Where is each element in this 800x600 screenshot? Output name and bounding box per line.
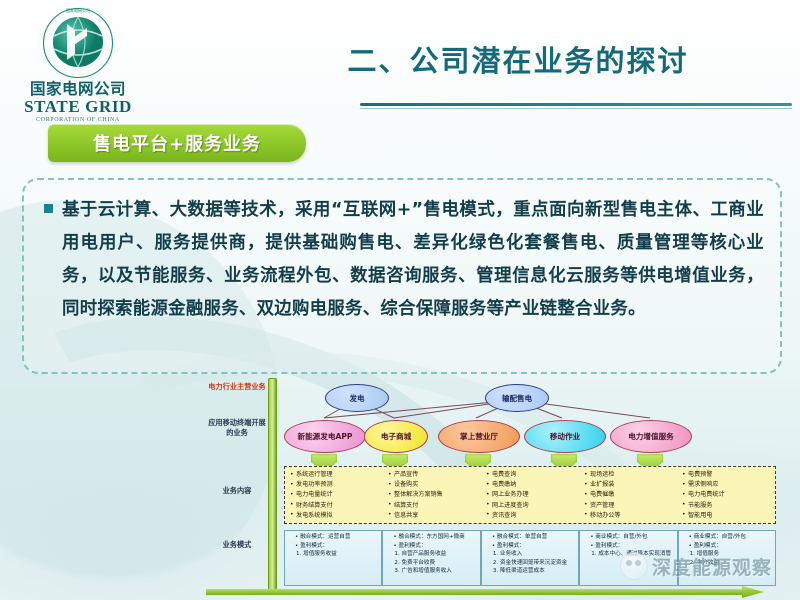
title-underline	[360, 103, 792, 106]
node-mobile-operations[interactable]: 移动作业	[524, 420, 606, 453]
arrow-shaft	[206, 589, 746, 595]
content-item: 结算支付	[388, 501, 479, 511]
content-item: 电力电费统计	[682, 490, 773, 500]
slide-canvas: 国家电网公司 国家电网公司 STATE GRID CORPORATION OF …	[0, 0, 800, 600]
watermark: 深度能源观察	[620, 552, 772, 580]
content-item: 网上进度查询	[486, 501, 577, 511]
watermark-logo-icon	[620, 552, 648, 580]
content-item: 网上业务办理	[486, 490, 577, 500]
content-item: 系统运行管理	[290, 470, 381, 480]
model-box-2: • 融合模式：东方国网+微商 • 盈利模式： 1. 自营产品服务收益 2. 免费…	[382, 530, 480, 586]
model-line: • 融合模式：东方国网+微商	[387, 533, 477, 542]
content-column-1: 系统运行管理 发电功率预测 电力电量统计 财务结算支付 发电系统模拟	[285, 467, 383, 523]
node-ecommerce-label: 电子商城	[381, 432, 411, 441]
row-label-business-model: 业务模式	[206, 540, 268, 550]
row-label-main-business: 电力行业主营业务	[206, 382, 268, 392]
model-line: • 盈利模式：	[387, 542, 477, 551]
model-line: • 融合模式：运营自营	[289, 533, 379, 542]
logo-chinese-name: 国家电网公司	[8, 81, 148, 97]
node-mobile-operations-label: 移动作业	[550, 432, 580, 441]
content-item: 设备购买	[388, 480, 479, 490]
node-power-generation[interactable]: 发电	[325, 384, 389, 412]
globe-icon: 国家电网公司	[41, 6, 115, 80]
content-item: 发电功率预测	[290, 480, 381, 490]
content-column-3: 电费查询 电费缴纳 网上业务办理 网上进度查询 资讯查询	[481, 467, 579, 523]
content-item: 智能用电	[682, 511, 773, 521]
page-title: 二、公司潜在业务的探讨	[258, 38, 778, 80]
logo-english-name: STATE GRID	[8, 98, 148, 115]
model-line: 3. 降低渠道运营成本	[486, 567, 576, 576]
model-line: • 盈利模式：	[486, 542, 576, 551]
node-mobile-service-hall[interactable]: 掌上营业厅	[438, 420, 520, 453]
content-item: 电费预警	[682, 470, 773, 480]
content-panel: 基于云计算、大数据等技术，采用“互联网+”售电模式，重点面向新型售电主体、工商业…	[22, 178, 782, 374]
content-item: 信息共享	[388, 511, 479, 521]
model-box-1: • 融合模式：运营自营 • 盈利模式： 1. 增值服务收益	[284, 530, 382, 586]
model-line: 2. 资金快速回笼带来沉淀资金	[486, 559, 576, 568]
svg-text:国家电网公司: 国家电网公司	[66, 7, 90, 13]
content-item: 电费查询	[486, 470, 577, 480]
bottom-progress-arrow	[206, 586, 766, 597]
row-label-business-content: 业务内容	[206, 486, 268, 496]
content-item: 资讯查询	[486, 511, 577, 521]
model-line: • 盈利模式：	[584, 542, 674, 551]
content-item: 电力电量统计	[290, 490, 381, 500]
model-line: 3. 广告和增值服务收入	[387, 567, 477, 576]
row-label-mobile-business: 应用移动终端开展的业务	[206, 418, 268, 438]
content-item: 业扩报装	[584, 480, 675, 490]
content-item: 电费催缴	[584, 490, 675, 500]
content-column-4: 现场运检 业扩报装 电费催缴 资产管理 移动办公等	[579, 467, 677, 523]
content-item: 节能服务	[682, 501, 773, 511]
business-content-box: 系统运行管理 发电功率预测 电力电量统计 财务结算支付 发电系统模拟 产品宣传 …	[284, 466, 776, 524]
node-value-added-services[interactable]: 电力增值服务	[610, 420, 692, 453]
content-item: 整体解决方案销售	[388, 490, 479, 500]
section-tab-label: 售电平台+服务业务	[93, 130, 261, 156]
node-mobile-service-hall-label: 掌上营业厅	[460, 432, 498, 441]
node-power-generation-label: 发电	[350, 394, 365, 403]
content-column-5: 电费预警 需求侧响应 电力电费统计 节能服务 智能用电	[677, 467, 775, 523]
content-item: 财务结算支付	[290, 501, 381, 511]
content-item: 发电系统模拟	[290, 511, 381, 521]
diagram-vertical-axis	[268, 378, 277, 590]
content-item: 产品宣传	[388, 470, 479, 480]
arrow-head-icon	[742, 586, 764, 598]
model-line: 1. 自营产品服务收益	[387, 550, 477, 559]
node-ecommerce[interactable]: 电子商城	[364, 420, 428, 453]
model-line: • 商业模式：自营/外包	[584, 533, 674, 542]
content-item: 需求侧响应	[682, 480, 773, 490]
model-line: 2. 免费平台收费	[387, 559, 477, 568]
model-box-3: • 融合模式：单营自营 • 盈利模式： 1. 业务收入 2. 资金快速回笼带来沉…	[481, 530, 579, 586]
title-underline-thin	[360, 108, 792, 109]
section-tab: 售电平台+服务业务	[48, 124, 306, 162]
model-line: • 盈利模式：	[289, 542, 379, 551]
state-grid-logo: 国家电网公司 国家电网公司 STATE GRID CORPORATION OF …	[8, 6, 148, 124]
content-item: 资产管理	[584, 501, 675, 511]
node-new-energy-app-label: 新能源发电APP	[298, 432, 353, 441]
model-line: • 商业模式：自营/外包	[683, 533, 773, 542]
model-line: • 融合模式：单营自营	[486, 533, 576, 542]
node-transmission-sales[interactable]: 输配售电	[485, 384, 549, 412]
content-item: 现场运检	[584, 470, 675, 480]
model-line: • 盈利模式：	[683, 542, 773, 551]
model-line: 1. 业务收入	[486, 550, 576, 559]
body-paragraph: 基于云计算、大数据等技术，采用“互联网+”售电模式，重点面向新型售电主体、工商业…	[62, 194, 764, 326]
node-value-added-services-label: 电力增值服务	[628, 432, 674, 441]
content-item: 移动办公等	[584, 511, 675, 521]
watermark-text: 深度能源观察	[652, 553, 772, 580]
bullet-square-icon	[44, 204, 53, 213]
content-item: 电费缴纳	[486, 480, 577, 490]
model-line: 1. 增值服务收益	[289, 550, 379, 559]
logo-english-subtitle: CORPORATION OF CHINA	[8, 117, 148, 123]
content-column-2: 产品宣传 设备购买 整体解决方案销售 结算支付 信息共享	[383, 467, 481, 523]
node-new-energy-app[interactable]: 新能源发电APP	[284, 420, 366, 453]
node-transmission-sales-label: 输配售电	[502, 394, 532, 403]
